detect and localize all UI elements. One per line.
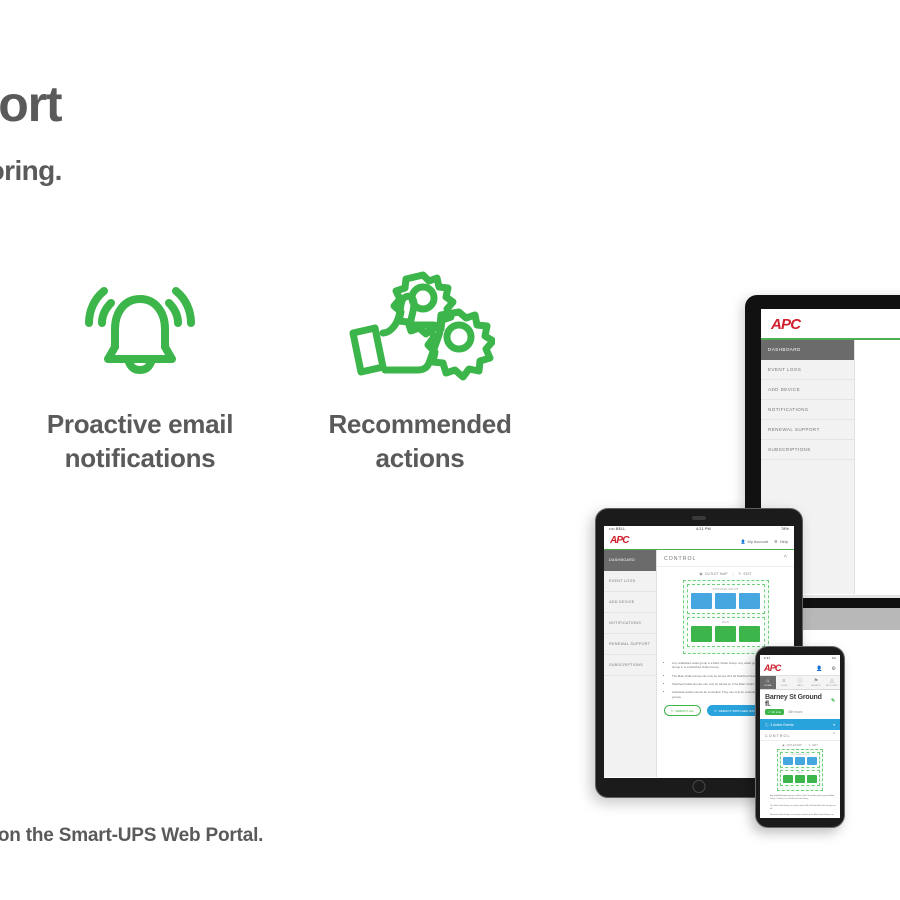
outlet[interactable] — [783, 775, 793, 783]
device-title-text: Barney St Ground fl. — [765, 694, 829, 708]
chevron-down-icon[interactable]: ▾ — [833, 723, 835, 727]
apc-logo: APC — [771, 317, 800, 332]
gear-icon[interactable]: ⚙ — [832, 666, 836, 672]
apc-logo: APC — [610, 536, 629, 546]
outlet-map: SWITCHED GROUP MAIN — [777, 749, 823, 791]
control-link-separator: | — [805, 744, 806, 747]
control-links: ▣ OUTLET MAP | ✎ EDIT — [657, 572, 794, 576]
tablet-home-button[interactable] — [693, 780, 706, 793]
desktop-main-content — [855, 340, 900, 594]
outlet-map: SWITCHED GROUP MAIN — [683, 580, 769, 654]
control-panel-header: CONTROL ^ — [657, 550, 794, 567]
control-help-bullets: Any unlabelled outlet group is a Main Ou… — [764, 795, 836, 817]
sidebar-item-dashboard[interactable]: DASHBOARD — [761, 340, 854, 360]
sidebar-item-event-logs[interactable]: EVENT LOGS — [604, 571, 656, 592]
tab-info[interactable]: ⓘ INFO — [792, 676, 808, 689]
edit-label: EDIT — [812, 744, 817, 747]
footer-legal-text: ensing. Terms on the Smart-UPS Web Porta… — [0, 825, 263, 847]
sidebar-item-subscriptions[interactable]: SUBSCRIPTIONS — [761, 440, 854, 460]
outlet-row-switched — [783, 757, 817, 765]
outlet-row-switched — [691, 593, 761, 609]
tab-home[interactable]: ⌂ HOME — [760, 676, 776, 689]
marketing-page: net Port er monitoring. Proactive email … — [0, 0, 900, 900]
chevron-up-icon[interactable]: ^ — [784, 555, 787, 562]
tab-label-alerts: ALERTS — [811, 685, 820, 687]
sidebar-label-renewal-support: RENEWAL SUPPORT — [768, 427, 820, 432]
outlet-group-label-main: MAIN — [783, 773, 817, 774]
edit-button[interactable]: ✎ EDIT — [808, 744, 817, 747]
list-icon: ≡ — [776, 679, 792, 684]
alert-icon: ⚑ — [808, 679, 824, 684]
desktop-topbar: APC — [761, 309, 900, 340]
outlet-map-button[interactable]: ▣ OUTLET MAP — [699, 572, 727, 576]
outlet-map-button[interactable]: ▣ OUTLET MAP — [782, 744, 802, 747]
my-account-button[interactable]: 👤 My Account — [741, 539, 769, 544]
active-events-left: ⓘ 3 Active Events — [765, 722, 794, 727]
tablet-status-carrier: •••• BELL — [609, 527, 626, 531]
outlet[interactable] — [691, 626, 712, 642]
active-events-bar[interactable]: ⓘ 3 Active Events ▾ — [760, 719, 840, 730]
edit-button[interactable]: ✎ EDIT — [739, 572, 752, 576]
device-title: Barney St Ground fl. ✎ — [760, 690, 840, 709]
pencil-icon: ✎ — [808, 744, 810, 747]
help-label: Help — [780, 539, 788, 544]
tablet-status-battery: 78% — [781, 527, 789, 531]
apc-logo: APC — [764, 664, 781, 673]
feature-item-notifications: Proactive email notifications — [0, 262, 280, 476]
monitor-base — [790, 608, 900, 630]
outlet-map-label: OUTLET MAP — [786, 744, 801, 747]
list-item: The Main Outlet Group can only be turned… — [770, 805, 836, 811]
tab-label-home: HOME — [765, 685, 772, 687]
check-icon: ✓ — [768, 710, 770, 714]
outlet-group-switched[interactable]: SWITCHED GROUP — [780, 752, 820, 768]
outlet[interactable] — [795, 775, 805, 783]
user-icon: 👤 — [741, 539, 746, 544]
sidebar-item-notifications[interactable]: NOTIFICATIONS — [604, 613, 656, 634]
device-status-row: ✓ On Line 48h hours — [760, 709, 840, 719]
control-panel-header: CONTROL ^ — [760, 730, 840, 741]
outlet[interactable] — [739, 626, 760, 642]
outlet[interactable] — [739, 593, 760, 609]
active-events-label: 3 Active Events — [770, 723, 793, 727]
phone-device: 9:41 4G APC 👤 ⚙ ⌂ HOME ≡ — [755, 646, 845, 828]
feature-label-notifications: Proactive email notifications — [47, 408, 233, 476]
my-account-label: My Account — [747, 539, 768, 544]
sidebar-label-notifications: NOTIFICATIONS — [609, 621, 641, 625]
phone-topbar-actions: 👤 ⚙ — [816, 666, 836, 672]
page-title: net Port — [0, 78, 642, 131]
chevron-up-icon[interactable]: ^ — [833, 733, 835, 738]
help-button[interactable]: ⚙ Help — [774, 539, 788, 544]
tab-label-account: ACCOUNT — [826, 685, 838, 687]
tab-label-info: INFO — [797, 685, 803, 687]
outlet-group-main[interactable]: MAIN — [687, 617, 765, 647]
home-icon: ⌂ — [760, 679, 776, 684]
sidebar-item-renewal-support[interactable]: RENEWAL SUPPORT — [761, 420, 854, 440]
info-icon: ⓘ — [765, 722, 768, 727]
account-icon: △ — [824, 679, 840, 684]
list-item: Switched Outlet Groups can only be turne… — [770, 814, 836, 817]
gear-icon: ⚙ — [774, 539, 778, 544]
phone-notch — [786, 648, 814, 655]
page-subtitle: er monitoring. — [0, 155, 62, 187]
sidebar-item-event-logs[interactable]: EVENT LOGS — [761, 360, 854, 380]
control-link-separator: | — [733, 572, 734, 576]
sidebar-label-subscriptions: SUBSCRIPTIONS — [609, 663, 643, 667]
outlet-row-main — [783, 775, 817, 783]
outlet[interactable] — [795, 757, 805, 765]
map-icon: ▣ — [699, 572, 702, 576]
sidebar-label-dashboard: DASHBOARD — [609, 558, 635, 562]
tablet-topbar-actions: 👤 My Account ⚙ Help — [741, 539, 789, 544]
reboot-all-label: REBOOT ALL — [676, 709, 695, 713]
user-icon[interactable]: 👤 — [816, 666, 822, 672]
control-title: CONTROL — [765, 734, 791, 738]
sidebar-label-subscriptions: SUBSCRIPTIONS — [768, 447, 811, 452]
sidebar-item-notifications[interactable]: NOTIFICATIONS — [761, 400, 854, 420]
sidebar-label-event-logs: EVENT LOGS — [609, 579, 636, 583]
tablet-topbar: APC 👤 My Account ⚙ Help — [604, 532, 794, 550]
map-icon: ▣ — [782, 744, 784, 747]
phone-tab-bar: ⌂ HOME ≡ LOGS ⓘ INFO ⚑ ALERTS — [760, 675, 840, 690]
feature-item-recommended-actions: Recommended actions — [280, 262, 560, 476]
tablet-camera — [692, 516, 706, 520]
control-title: CONTROL — [664, 556, 696, 562]
control-links: ▣ OUTLET MAP | ✎ EDIT — [760, 744, 840, 747]
sidebar-label-renewal-support: RENEWAL SUPPORT — [609, 642, 650, 646]
status-badge: ✓ On Line — [765, 709, 784, 715]
feature-list: Proactive email notifications Recommende… — [0, 262, 560, 476]
bell-ringing-icon — [80, 262, 200, 392]
sidebar-label-dashboard: DASHBOARD — [768, 347, 801, 352]
outlet[interactable] — [691, 593, 712, 609]
status-badge-label: On Line — [771, 710, 781, 714]
phone-status-network: 4G — [832, 656, 836, 660]
tab-logs[interactable]: ≡ LOGS — [776, 676, 792, 689]
outlet-group-switched[interactable]: SWITCHED GROUP — [687, 584, 765, 614]
sidebar-item-add-device[interactable]: ADD DEVICE — [604, 592, 656, 613]
sidebar-label-add-device: ADD DEVICE — [768, 387, 800, 392]
refresh-icon: ↻ — [671, 709, 674, 713]
tab-label-logs: LOGS — [781, 685, 787, 687]
outlet[interactable] — [715, 626, 736, 642]
sidebar-item-dashboard[interactable]: DASHBOARD — [604, 550, 656, 571]
thumbs-up-gears-icon — [345, 262, 495, 392]
sidebar-item-subscriptions[interactable]: SUBSCRIPTIONS — [604, 655, 656, 676]
outlet-row-main — [691, 626, 761, 642]
phone-screen: 9:41 4G APC 👤 ⚙ ⌂ HOME ≡ — [760, 655, 840, 818]
tablet-status-time: 4:21 PM — [696, 527, 711, 531]
outlet-group-main[interactable]: MAIN — [780, 770, 820, 786]
tablet-sidebar: DASHBOARD EVENT LOGS ADD DEVICE NOTIFICA… — [604, 550, 657, 777]
reboot-all-button[interactable]: ↻ REBOOT ALL — [664, 705, 701, 716]
outlet[interactable] — [807, 775, 817, 783]
pencil-icon[interactable]: ✎ — [831, 698, 835, 704]
outlet-map-label: OUTLET MAP — [705, 572, 728, 576]
sidebar-label-add-device: ADD DEVICE — [609, 600, 635, 604]
phone-topbar: APC 👤 ⚙ — [760, 661, 840, 675]
info-icon: ⓘ — [792, 679, 808, 684]
outlet-group-label-main: MAIN — [691, 621, 761, 624]
device-mockup-group: APC DASHBOARD EVENT LOGS ADD DEVICE — [560, 280, 900, 860]
headline-block: net Port — [0, 78, 642, 131]
feature-label-recommended-actions: Recommended actions — [328, 408, 511, 476]
outlet-group-label-switched: SWITCHED GROUP — [783, 755, 817, 756]
outlet-group-label-switched: SWITCHED GROUP — [691, 588, 761, 591]
sidebar-item-add-device[interactable]: ADD DEVICE — [761, 380, 854, 400]
tab-alerts[interactable]: ⚑ ALERTS — [808, 676, 824, 689]
outlet[interactable] — [715, 593, 736, 609]
sidebar-label-notifications: NOTIFICATIONS — [768, 407, 808, 412]
outlet[interactable] — [807, 757, 817, 765]
tab-account[interactable]: △ ACCOUNT — [824, 676, 840, 689]
pencil-icon: ✎ — [739, 572, 742, 576]
list-item: Any unlabelled outlet group is a Main Ou… — [770, 795, 836, 801]
phone-status-time: 9:41 — [764, 656, 770, 660]
runtime-label: 48h hours — [788, 710, 802, 714]
sidebar-label-event-logs: EVENT LOGS — [768, 367, 801, 372]
sidebar-item-renewal-support[interactable]: RENEWAL SUPPORT — [604, 634, 656, 655]
outlet[interactable] — [783, 757, 793, 765]
refresh-icon: ↻ — [714, 709, 717, 713]
edit-label: EDIT — [744, 572, 752, 576]
